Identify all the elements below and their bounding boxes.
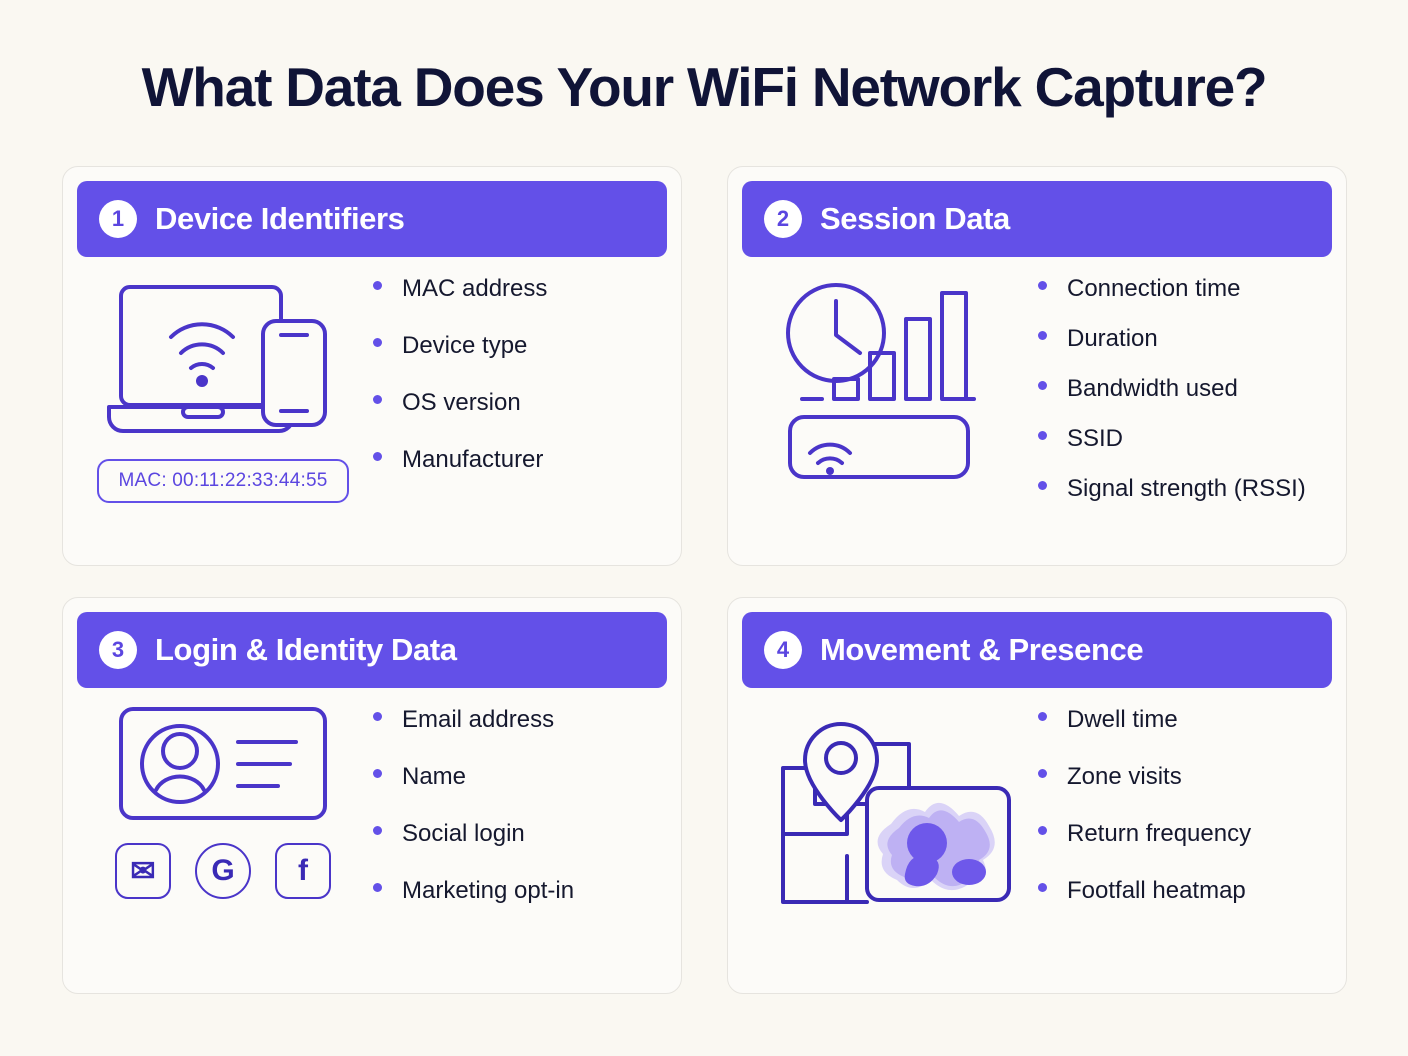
bullet-list: Dwell time Zone visits Return frequency … [1034,706,1332,934]
list-item-label: Footfall heatmap [1067,877,1246,905]
list-item: Marketing opt-in [373,877,667,905]
bullet-dot-icon [373,883,382,892]
card-grid: 1 Device Identifiers [62,166,1347,994]
laptop-phone-wifi-icon: MAC: 00:11:22:33:44:55 [77,275,369,503]
list-item-label: Duration [1067,325,1158,353]
google-glyph: G [211,854,234,888]
card-header: 1 Device Identifiers [77,181,667,257]
bullet-dot-icon [373,826,382,835]
id-card-social-icon: ✉ G f [77,706,369,899]
mac-address-badge: MAC: 00:11:22:33:44:55 [97,459,350,503]
list-item-label: Device type [402,332,527,360]
card-title: Movement & Presence [820,632,1143,668]
card-number-badge: 4 [764,631,802,669]
bullet-dot-icon [1038,826,1047,835]
map-pin-heatmap-icon [742,706,1034,916]
card-number-badge: 2 [764,200,802,238]
list-item: Dwell time [1038,706,1332,734]
card-body: MAC: 00:11:22:33:44:55 MAC address Devic… [77,257,667,551]
list-item: Footfall heatmap [1038,877,1332,905]
card-login-identity-data: 3 Login & Identity Data ✉ [62,597,682,994]
card-number-badge: 1 [99,200,137,238]
list-item: Signal strength (RSSI) [1038,475,1332,503]
list-item-label: Manufacturer [402,446,543,474]
list-item-label: SSID [1067,425,1123,453]
email-icon[interactable]: ✉ [115,843,171,899]
bullet-list: Connection time Duration Bandwidth used … [1034,275,1332,525]
list-item: Social login [373,820,667,848]
list-item-label: Email address [402,706,554,734]
bullet-dot-icon [373,281,382,290]
list-item-label: Signal strength (RSSI) [1067,475,1306,503]
list-item: Duration [1038,325,1332,353]
list-item-label: Connection time [1067,275,1240,303]
list-item: Bandwidth used [1038,375,1332,403]
facebook-glyph: f [298,854,308,888]
list-item-label: Dwell time [1067,706,1178,734]
list-item: Name [373,763,667,791]
email-glyph: ✉ [130,854,155,889]
card-header: 2 Session Data [742,181,1332,257]
bullet-dot-icon [1038,281,1047,290]
list-item-label: Social login [402,820,525,848]
list-item: MAC address [373,275,667,303]
list-item-label: Return frequency [1067,820,1251,848]
list-item: Device type [373,332,667,360]
clock-bars-router-icon [742,275,1034,490]
list-item-label: Bandwidth used [1067,375,1238,403]
bullet-dot-icon [373,769,382,778]
card-body: Connection time Duration Bandwidth used … [742,257,1332,551]
card-header: 3 Login & Identity Data [77,612,667,688]
list-item: OS version [373,389,667,417]
list-item: Return frequency [1038,820,1332,848]
list-item: SSID [1038,425,1332,453]
bullet-dot-icon [373,452,382,461]
bullet-dot-icon [1038,381,1047,390]
bullet-dot-icon [1038,331,1047,340]
list-item: Email address [373,706,667,734]
facebook-icon[interactable]: f [275,843,331,899]
list-item-label: Marketing opt-in [402,877,574,905]
bullet-dot-icon [1038,431,1047,440]
card-header: 4 Movement & Presence [742,612,1332,688]
google-icon[interactable]: G [195,843,251,899]
list-item-label: Zone visits [1067,763,1182,791]
infographic-page: What Data Does Your WiFi Network Capture… [0,0,1408,1056]
social-icon-row: ✉ G f [115,843,331,899]
list-item-label: OS version [402,389,521,417]
card-number-badge: 3 [99,631,137,669]
bullet-list: Email address Name Social login Marketin… [369,706,667,934]
card-session-data: 2 Session Data [727,166,1347,566]
card-title: Device Identifiers [155,201,405,237]
bullet-dot-icon [373,338,382,347]
bullet-dot-icon [1038,883,1047,892]
bullet-list: MAC address Device type OS version Manuf… [369,275,667,503]
list-item: Zone visits [1038,763,1332,791]
page-title: What Data Does Your WiFi Network Capture… [0,55,1408,119]
bullet-dot-icon [1038,712,1047,721]
bullet-dot-icon [1038,769,1047,778]
bullet-dot-icon [373,712,382,721]
bullet-dot-icon [373,395,382,404]
list-item-label: Name [402,763,466,791]
card-body: Dwell time Zone visits Return frequency … [742,688,1332,979]
list-item: Connection time [1038,275,1332,303]
bullet-dot-icon [1038,481,1047,490]
list-item-label: MAC address [402,275,547,303]
card-title: Session Data [820,201,1010,237]
card-body: ✉ G f Email address Name Social login Ma… [77,688,667,979]
card-movement-presence: 4 Movement & Presence [727,597,1347,994]
card-title: Login & Identity Data [155,632,457,668]
list-item: Manufacturer [373,446,667,474]
card-device-identifiers: 1 Device Identifiers [62,166,682,566]
